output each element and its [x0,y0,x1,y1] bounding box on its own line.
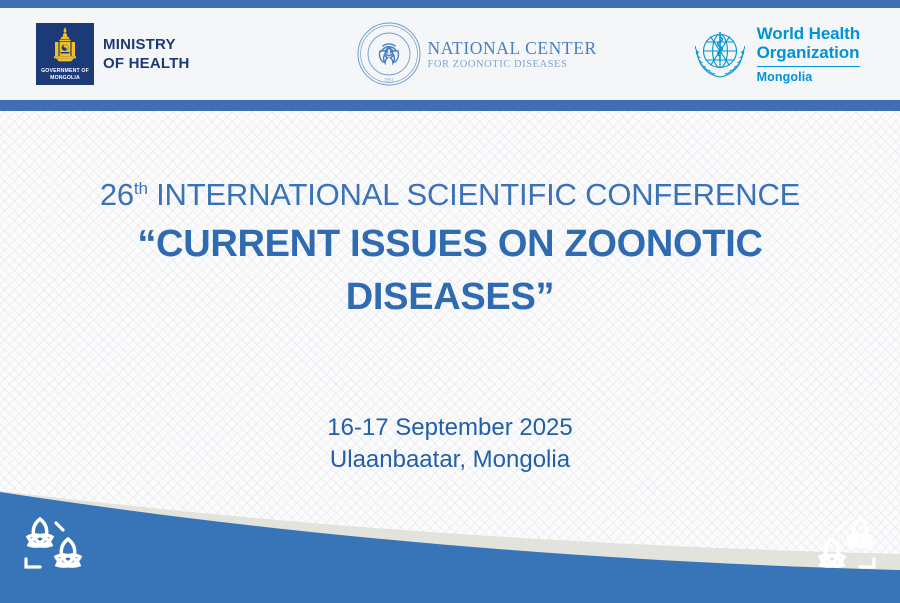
event-dates: 16-17 September 2025 [0,412,900,444]
who-name-line1: World Health [757,24,860,44]
emblem-caption-line1: GOVERNMENT OF [36,68,94,74]
bottom-wave-decoration [0,468,900,603]
national-center-logo: 1951 NATIONAL CENTER FOR [356,21,597,87]
logo-row: GOVERNMENT OF MONGOLIA MINISTRY OF HEALT… [0,8,900,100]
ministry-of-health-logo: GOVERNMENT OF MONGOLIA MINISTRY OF HEALT… [36,23,190,85]
who-emblem-icon [691,25,749,83]
national-center-title-line1: NATIONAL CENTER [428,38,597,58]
triquetra-knot-ornament-left [18,511,104,573]
top-accent-bar [0,0,900,8]
conference-heading: 26th INTERNATIONAL SCIENTIFIC CONFERENCE [0,172,900,218]
biohazard-seal-icon: 1951 [356,21,422,87]
ministry-of-health-label: MINISTRY OF HEALTH [103,35,190,73]
who-name-line2: Organization [757,43,860,63]
title-block: 26th INTERNATIONAL SCIENTIFIC CONFERENCE… [0,172,900,324]
emblem-caption: GOVERNMENT OF MONGOLIA [36,68,94,81]
national-center-title-line2: FOR ZOONOTIC DISEASES [428,58,597,71]
who-wordmark: World Health Organization Mongolia [757,24,860,85]
mongolia-state-emblem-icon: GOVERNMENT OF MONGOLIA [36,23,94,85]
conference-number: 26 [100,177,134,212]
event-details: 16-17 September 2025 Ulaanbaatar, Mongol… [0,412,900,476]
conference-title-slide: GOVERNMENT OF MONGOLIA MINISTRY OF HEALT… [0,0,900,603]
soyombo-icon [47,26,83,66]
national-center-text: NATIONAL CENTER FOR ZOONOTIC DISEASES [428,38,597,71]
triquetra-knot-ornament-right [796,511,882,573]
ministry-label-line2: OF HEALTH [103,54,190,73]
theme-line-1: “CURRENT ISSUES ON ZOONOTIC [0,218,900,271]
theme-line-2: DISEASES” [0,271,900,324]
ministry-label-line1: MINISTRY [103,35,190,54]
header-separator-bar [0,100,900,111]
conference-ordinal: th [134,179,148,198]
who-divider-rule [757,66,860,68]
emblem-caption-line2: MONGOLIA [36,75,94,81]
who-logo: World Health Organization Mongolia [691,24,860,85]
who-country-label: Mongolia [757,70,860,84]
seal-year: 1951 [384,79,395,84]
conference-heading-text: INTERNATIONAL SCIENTIFIC CONFERENCE [148,177,800,212]
